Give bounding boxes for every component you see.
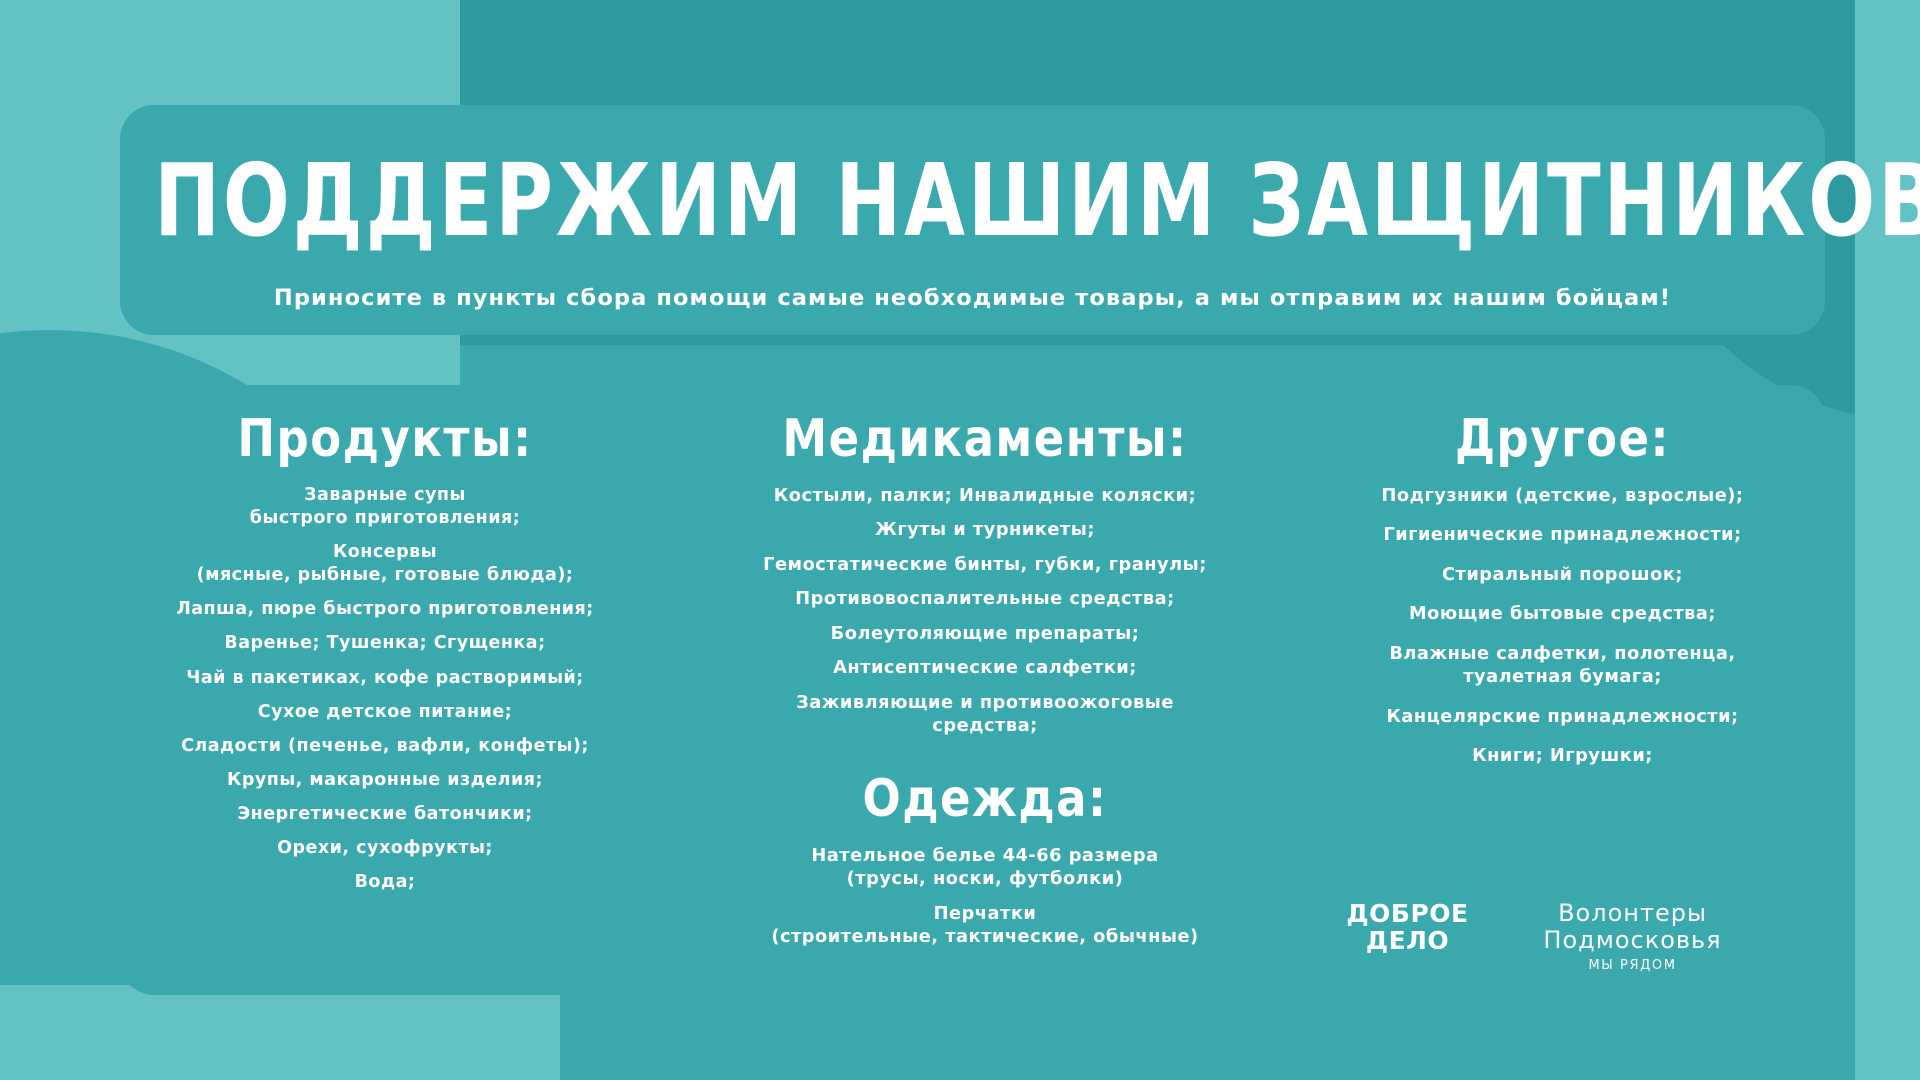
list-item: Крупы, макаронные изделия; bbox=[134, 769, 636, 792]
list-item: Влажные салфетки, полотенца, туалетная б… bbox=[1314, 642, 1811, 689]
logo-volunteers-line1: Волонтеры bbox=[1525, 900, 1740, 927]
list-item: Сухое детское питание; bbox=[134, 701, 636, 724]
clothing-list: Нательное белье 44-66 размера (трусы, но… bbox=[700, 838, 1270, 949]
list-item: Костыли, палки; Инвалидные коляски; bbox=[714, 484, 1256, 507]
poster-canvas: ПОДДЕРЖИМ НАШИМ ЗАЩИТНИКОВ! Приносите в … bbox=[0, 0, 1920, 1080]
other-list: Подгузники (детские, взрослые); Гигиенич… bbox=[1300, 478, 1825, 768]
list-item: Нательное белье 44-66 размера (трусы, но… bbox=[714, 844, 1256, 891]
list-item: Заварные супы быстрого приготовления; bbox=[134, 484, 636, 530]
products-list: Заварные супы быстрого приготовления; Ко… bbox=[120, 478, 650, 894]
list-item: Антисептические салфетки; bbox=[714, 656, 1256, 679]
list-item: Чай в пакетиках, кофе растворимый; bbox=[134, 667, 636, 690]
list-item: Болеутоляющие препараты; bbox=[714, 622, 1256, 645]
list-item: Консервы (мясные, рыбные, готовые блюда)… bbox=[134, 541, 636, 587]
logo-volunteers-podmoskovya: Волонтеры Подмосковья МЫ РЯДОМ bbox=[1525, 900, 1740, 973]
list-item: Гемостатические бинты, губки, гранулы; bbox=[714, 553, 1256, 576]
column-panel-products: Продукты: Заварные супы быстрого пригото… bbox=[120, 385, 650, 995]
background-shape-bottom-left-light bbox=[0, 985, 560, 1080]
logo-volunteers-line2: Подмосковья bbox=[1525, 927, 1740, 954]
list-item: Моющие бытовые средства; bbox=[1314, 602, 1811, 625]
list-item: Книги; Игрушки; bbox=[1314, 744, 1811, 767]
list-item: Противовоспалительные средства; bbox=[714, 587, 1256, 610]
medications-list: Костыли, палки; Инвалидные коляски; Жгут… bbox=[700, 478, 1270, 738]
list-item: Стиральный порошок; bbox=[1314, 563, 1811, 586]
column-title-clothing: Одежда: bbox=[700, 742, 1270, 844]
list-item: Перчатки (строительные, тактические, обы… bbox=[714, 902, 1256, 949]
column-panel-medications: Медикаменты: Костыли, палки; Инвалидные … bbox=[700, 385, 1270, 985]
list-item: Сладости (печенье, вафли, конфеты); bbox=[134, 735, 636, 758]
list-item: Жгуты и турникеты; bbox=[714, 518, 1256, 541]
column-title-medications: Медикаменты: bbox=[700, 378, 1270, 485]
list-item: Подгузники (детские, взрослые); bbox=[1314, 484, 1811, 507]
logo-dobroe-delo: ДОБРОЕ ДЕЛО bbox=[1330, 900, 1485, 954]
list-item: Канцелярские принадлежности; bbox=[1314, 705, 1811, 728]
list-item: Орехи, сухофрукты; bbox=[134, 837, 636, 860]
list-item: Варенье; Тушенка; Сгущенка; bbox=[134, 632, 636, 655]
list-item: Вода; bbox=[134, 871, 636, 894]
column-title-other: Другое: bbox=[1300, 378, 1825, 485]
list-item: Гигиенические принадлежности; bbox=[1314, 523, 1811, 546]
list-item: Лапша, пюре быстрого приготовления; bbox=[134, 598, 636, 621]
logo-group: ДОБРОЕ ДЕЛО Волонтеры Подмосковья МЫ РЯД… bbox=[1330, 900, 1830, 973]
column-panel-other: Другое: Подгузники (детские, взрослые); … bbox=[1300, 385, 1825, 855]
list-item: Заживляющие и противоожоговые средства; bbox=[714, 691, 1256, 738]
logo-volunteers-tagline: МЫ РЯДОМ bbox=[1525, 954, 1740, 973]
list-item: Энергетические батончики; bbox=[134, 803, 636, 826]
column-title-products: Продукты: bbox=[120, 378, 650, 485]
poster-title: ПОДДЕРЖИМ НАШИМ ЗАЩИТНИКОВ! bbox=[154, 123, 1791, 255]
header-panel: ПОДДЕРЖИМ НАШИМ ЗАЩИТНИКОВ! Приносите в … bbox=[120, 105, 1825, 335]
